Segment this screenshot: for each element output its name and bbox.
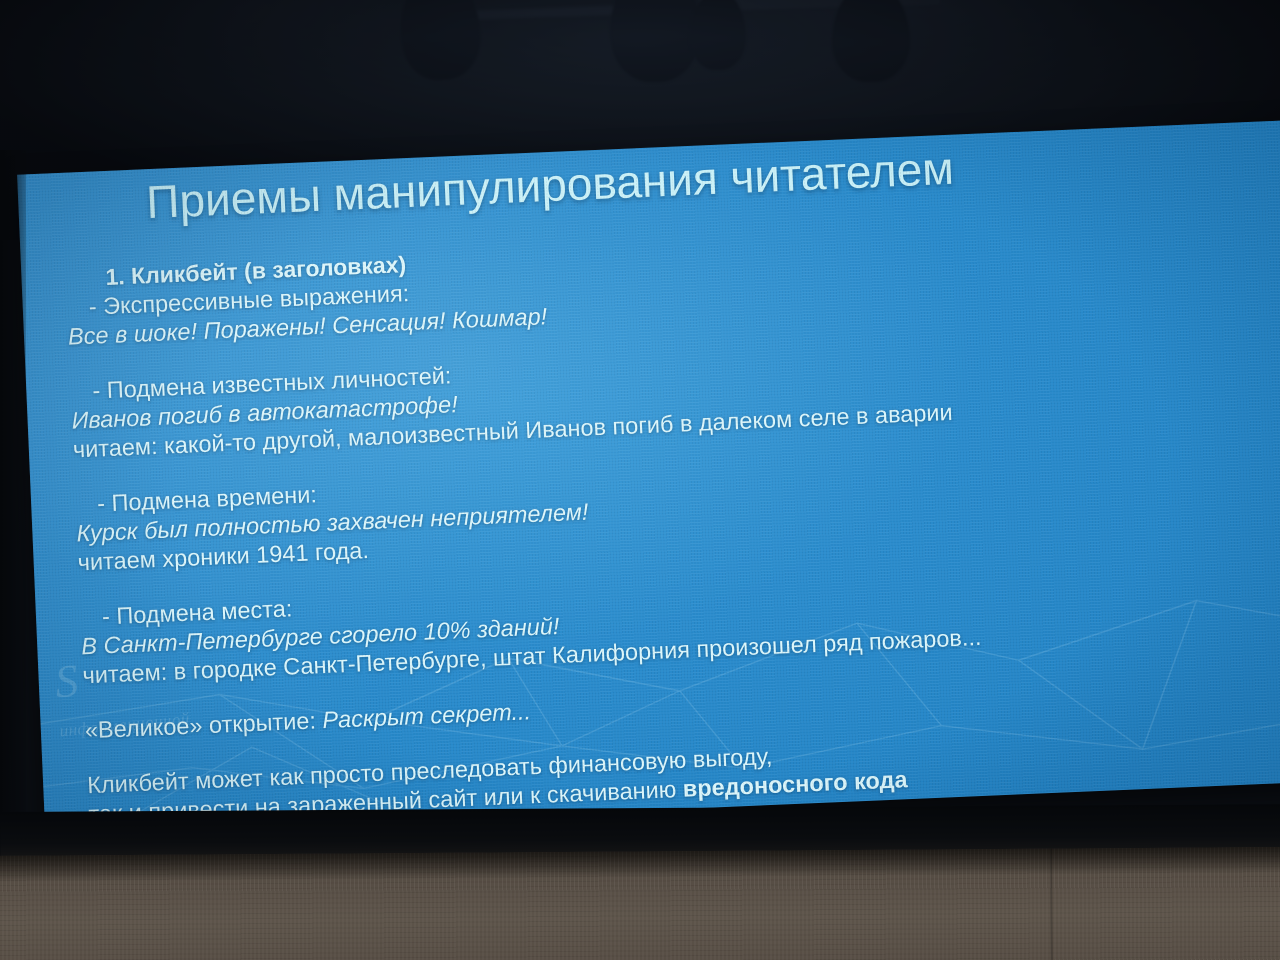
projection-screen-wrapper: S информационной Приемы манипулирования … bbox=[0, 94, 1280, 850]
slide-body: 1. Кликбейт (в заголовках) - Экспрессивн… bbox=[65, 212, 1280, 829]
projection-screen: S информационной Приемы манипулирования … bbox=[17, 119, 1280, 836]
wall-below-screen bbox=[0, 847, 1280, 960]
left-edge-shadow bbox=[0, 150, 26, 870]
photo-stage: S информационной Приемы манипулирования … bbox=[0, 0, 1280, 960]
slide-title: Приемы манипулирования читателем bbox=[145, 127, 1266, 229]
